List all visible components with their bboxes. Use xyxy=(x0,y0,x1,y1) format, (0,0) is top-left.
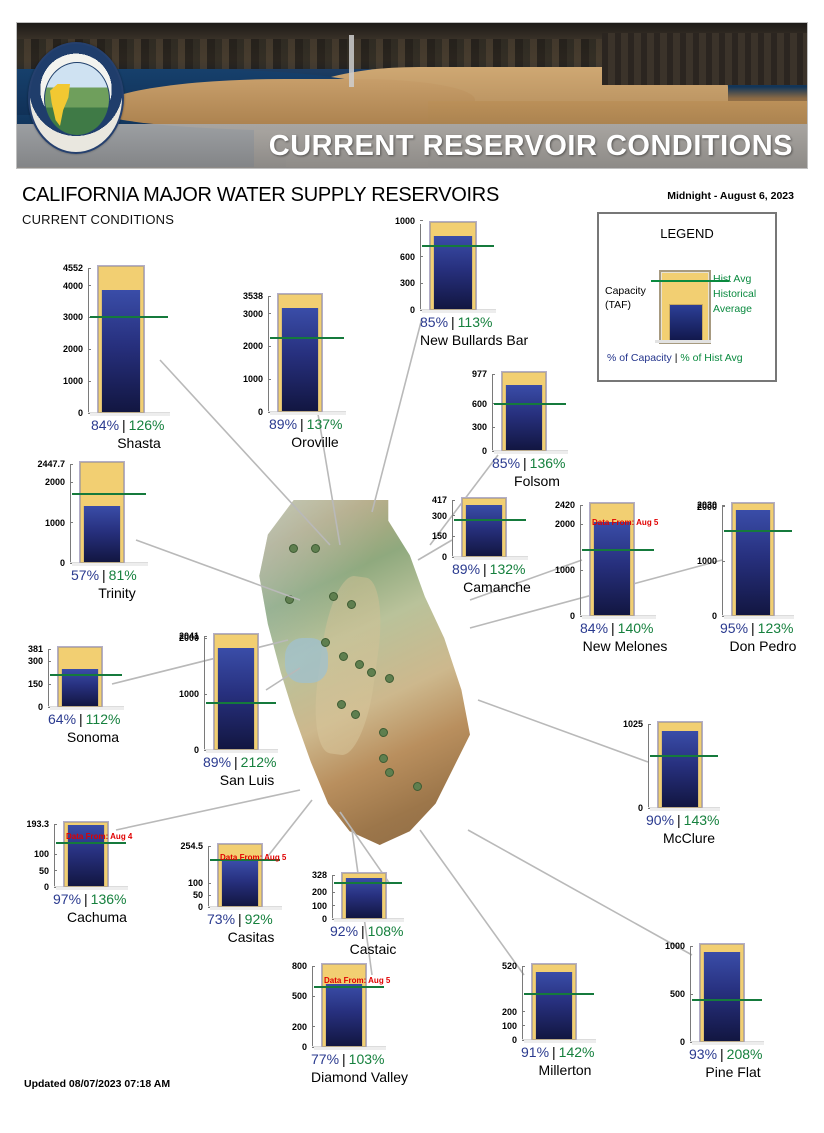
legend-pct-capacity: % of Capacity xyxy=(607,352,672,364)
percent-labels: 85%|113% xyxy=(420,314,492,330)
y-axis-tick-mark xyxy=(332,875,335,876)
y-axis-tick-label: 2030 xyxy=(697,500,722,510)
reservoir-plot: 050100193.3Data From: Aug 4 xyxy=(54,824,112,887)
percent-separator: | xyxy=(235,911,245,927)
panel-baseline xyxy=(524,1040,596,1043)
reservoir-plot: 0100020002030 xyxy=(722,505,778,616)
panel-baseline xyxy=(724,616,794,619)
y-axis-tick-label: 381 xyxy=(28,644,48,654)
reservoir-plot: 0100020002420Data From: Aug 5 xyxy=(580,505,640,616)
y-axis-tick-label: 1000 xyxy=(555,565,580,575)
reservoir-name: Shasta xyxy=(91,435,187,451)
y-axis-tick-mark xyxy=(580,524,583,525)
y-axis-tick-mark xyxy=(722,506,725,507)
panel-baseline xyxy=(210,907,282,910)
panel-baseline xyxy=(582,616,656,619)
percent-of-capacity: 90% xyxy=(646,812,674,828)
percent-labels: 89%|212% xyxy=(203,754,276,770)
map-reservoir-dot xyxy=(311,544,320,553)
legend-footer: % of Capacity | % of Hist Avg xyxy=(607,352,743,364)
reservoir-plot: 03006001000 xyxy=(420,224,480,310)
reservoir-panel: 0200500800Data From: Aug 577%|103%Diamon… xyxy=(312,966,370,1047)
y-axis-tick-label: 1025 xyxy=(623,719,648,729)
y-axis-tick-mark xyxy=(48,649,51,650)
page-subtitle: CURRENT CONDITIONS xyxy=(22,212,174,227)
percent-labels: 73%|92% xyxy=(207,911,273,927)
historical-average-line xyxy=(334,882,402,884)
y-axis-tick-label: 0 xyxy=(482,446,492,456)
percent-of-hist-avg: 103% xyxy=(349,1051,385,1067)
reservoir-name: Diamond Valley xyxy=(311,1069,399,1085)
y-axis-tick-label: 300 xyxy=(432,511,452,521)
map-reservoir-dot xyxy=(367,668,376,677)
historical-average-line xyxy=(90,316,168,318)
legend-historical-line2: Average xyxy=(713,302,756,317)
y-axis-tick-mark xyxy=(332,892,335,893)
y-axis-tick-mark xyxy=(690,994,693,995)
y-axis-tick-label: 3538 xyxy=(243,291,268,301)
historical-average-line xyxy=(314,986,384,988)
y-axis xyxy=(492,374,493,451)
y-axis-tick-label: 0 xyxy=(60,558,70,568)
reservoir-panel: 015030038164%|112%Sonoma xyxy=(48,649,108,707)
y-axis-tick-label: 0 xyxy=(442,552,452,562)
y-axis-tick-label: 4552 xyxy=(63,263,88,273)
y-axis-tick-label: 977 xyxy=(472,369,492,379)
reservoir-plot: 01025 xyxy=(648,724,704,808)
historical-average-line xyxy=(650,755,718,757)
y-axis-tick-label: 0 xyxy=(570,611,580,621)
y-axis-tick-label: 100 xyxy=(34,849,54,859)
legend-storage-fill xyxy=(669,304,703,342)
percent-labels: 93%|208% xyxy=(689,1046,762,1062)
y-axis-tick-label: 2000 xyxy=(45,477,70,487)
storage-bar xyxy=(217,648,255,749)
percent-of-capacity: 73% xyxy=(207,911,235,927)
panel-baseline xyxy=(494,451,568,454)
percent-of-hist-avg: 208% xyxy=(727,1046,763,1062)
map-reservoir-dot xyxy=(329,592,338,601)
reservoir-plot: 0150300417 xyxy=(452,500,512,557)
historical-average-line xyxy=(524,993,594,995)
reservoir-name: Camanche xyxy=(452,579,542,595)
reservoir-panel: 0100020002420Data From: Aug 584%|140%New… xyxy=(580,505,640,616)
percent-of-hist-avg: 140% xyxy=(618,620,654,636)
percent-separator: | xyxy=(480,561,490,577)
map-reservoir-dot xyxy=(351,710,360,719)
reservoir-panel: 0100020002447.757%|81%Trinity xyxy=(70,464,132,563)
percent-of-hist-avg: 132% xyxy=(490,561,526,577)
reservoir-name: Folsom xyxy=(492,473,582,489)
percent-of-hist-avg: 108% xyxy=(368,923,404,939)
y-axis-tick-mark xyxy=(48,661,51,662)
y-axis-tick-label: 0 xyxy=(410,305,420,315)
reservoir-plot: 05001000 xyxy=(690,946,748,1042)
reservoir-panel: 010002000203095%|123%Don Pedro xyxy=(722,505,778,616)
y-axis-tick-mark xyxy=(648,724,651,725)
percent-labels: 91%|142% xyxy=(521,1044,594,1060)
y-axis-tick-label: 0 xyxy=(38,702,48,712)
historical-average-line xyxy=(72,493,146,495)
legend-baseline xyxy=(655,340,711,343)
y-axis-tick-label: 328 xyxy=(312,870,332,880)
panel-baseline xyxy=(206,750,278,753)
historical-average-line xyxy=(582,549,654,551)
reservoir-panel: 050100254.5Data From: Aug 573%|92%Casita… xyxy=(208,846,266,907)
y-axis-tick-mark xyxy=(268,346,271,347)
percent-labels: 90%|143% xyxy=(646,812,719,828)
y-axis xyxy=(48,649,49,707)
percent-labels: 77%|103% xyxy=(311,1051,384,1067)
y-axis-tick-mark xyxy=(332,905,335,906)
y-axis-tick-label: 417 xyxy=(432,495,452,505)
y-axis xyxy=(580,505,581,616)
percent-labels: 57%|81% xyxy=(71,567,137,583)
y-axis xyxy=(522,966,523,1040)
y-axis-tick-label: 0 xyxy=(258,407,268,417)
y-axis-tick-label: 2420 xyxy=(555,500,580,510)
map-reservoir-dot xyxy=(355,660,364,669)
y-axis-tick-label: 0 xyxy=(78,408,88,418)
y-axis-tick-mark xyxy=(208,846,211,847)
reservoir-panel: 010020032892%|108%Castaic xyxy=(332,875,388,919)
storage-bar xyxy=(281,308,319,411)
y-axis-tick-label: 150 xyxy=(432,531,452,541)
percent-labels: 97%|136% xyxy=(53,891,126,907)
percent-of-hist-avg: 92% xyxy=(245,911,273,927)
percent-of-capacity: 84% xyxy=(580,620,608,636)
storage-bar xyxy=(221,861,259,906)
panel-baseline xyxy=(90,413,170,416)
historical-average-line xyxy=(270,337,344,339)
percent-of-capacity: 89% xyxy=(452,561,480,577)
storage-bar xyxy=(345,878,383,918)
reservoir-plot: 0100200520 xyxy=(522,966,580,1040)
historical-average-line xyxy=(50,674,122,676)
historical-average-line xyxy=(422,245,494,247)
legend-historical-line1: Historical xyxy=(713,287,756,302)
storage-bar xyxy=(661,731,699,807)
y-axis-tick-label: 4000 xyxy=(63,281,88,291)
reservoir-panel: 015030041789%|132%Camanche xyxy=(452,500,512,557)
percent-of-hist-avg: 112% xyxy=(86,711,121,727)
reservoir-plot: 0200500800Data From: Aug 5 xyxy=(312,966,370,1047)
data-from-note: Data From: Aug 5 xyxy=(220,853,286,862)
y-axis-tick-label: 2041 xyxy=(179,631,204,641)
capacity-bar xyxy=(58,647,102,707)
y-axis-tick-label: 254.5 xyxy=(180,841,208,851)
reservoir-panel: 0102590%|143%McClure xyxy=(648,724,704,808)
y-axis-tick-label: 100 xyxy=(502,1021,522,1031)
percent-separator: | xyxy=(748,620,758,636)
reservoir-name: Casitas xyxy=(207,929,295,945)
map-reservoir-dot xyxy=(385,674,394,683)
reservoir-name: Trinity xyxy=(71,585,163,601)
legend-hist-avg-text: Hist Avg Historical Average xyxy=(713,272,756,317)
y-axis-tick-mark xyxy=(522,1025,525,1026)
y-axis-tick-mark xyxy=(208,883,211,884)
panel-baseline xyxy=(334,919,404,922)
panel-baseline xyxy=(692,1042,764,1045)
map-reservoir-dot xyxy=(289,544,298,553)
percent-of-hist-avg: 136% xyxy=(91,891,127,907)
y-axis xyxy=(88,268,89,413)
y-axis-tick-label: 1000 xyxy=(45,518,70,528)
reservoir-panel: 01000200030004000455284%|126%Shasta xyxy=(88,268,154,413)
legend-capacity-label: Capacity (TAF) xyxy=(605,284,663,312)
y-axis-tick-mark xyxy=(722,561,725,562)
percent-of-capacity: 95% xyxy=(720,620,748,636)
y-axis-tick-label: 150 xyxy=(28,679,48,689)
historical-average-line xyxy=(56,842,126,844)
reservoir-name: Don Pedro xyxy=(720,638,806,654)
y-axis-tick-mark xyxy=(492,427,495,428)
reservoir-name: Oroville xyxy=(269,434,361,450)
reservoir-plot: 010002000300040004552 xyxy=(88,268,154,413)
storage-bar xyxy=(325,984,363,1046)
leader-line xyxy=(372,318,422,512)
capacity-bar xyxy=(98,266,144,413)
reservoir-name: Castaic xyxy=(330,941,416,957)
as-of-timestamp: Midnight - August 6, 2023 xyxy=(667,190,794,202)
legend-capacity-line1: Capacity xyxy=(605,284,663,298)
percent-labels: 84%|126% xyxy=(91,417,164,433)
map-reservoir-dot xyxy=(385,768,394,777)
capacity-bar xyxy=(462,498,506,557)
storage-bar xyxy=(593,522,631,615)
percent-separator: | xyxy=(119,417,129,433)
y-axis-tick-mark xyxy=(492,374,495,375)
y-axis-tick-label: 100 xyxy=(188,878,208,888)
percent-of-hist-avg: 113% xyxy=(458,314,493,330)
percent-of-hist-avg: 123% xyxy=(758,620,794,636)
storage-bar xyxy=(535,972,573,1039)
y-axis-tick-mark xyxy=(48,684,51,685)
y-axis-tick-mark xyxy=(88,268,91,269)
percent-labels: 89%|132% xyxy=(452,561,525,577)
y-axis-tick-label: 200 xyxy=(312,887,332,897)
y-axis-tick-mark xyxy=(88,349,91,350)
y-axis-tick-mark xyxy=(268,313,271,314)
panel-baseline xyxy=(50,707,124,710)
y-axis-tick-mark xyxy=(54,854,57,855)
y-axis-tick-mark xyxy=(88,381,91,382)
panel-baseline xyxy=(454,557,528,560)
y-axis-tick-label: 1000 xyxy=(179,689,204,699)
storage-bar xyxy=(465,505,503,556)
capacity-bar xyxy=(342,873,386,919)
y-axis-tick-mark xyxy=(580,505,583,506)
y-axis-tick-mark xyxy=(70,522,73,523)
map-reservoir-dot xyxy=(347,600,356,609)
y-axis-tick-label: 100 xyxy=(312,901,332,911)
y-axis-tick-label: 3000 xyxy=(243,309,268,319)
y-axis-tick-mark xyxy=(522,1011,525,1012)
y-axis xyxy=(332,875,333,919)
percent-of-capacity: 89% xyxy=(203,754,231,770)
percent-of-capacity: 85% xyxy=(420,314,448,330)
banner-dam xyxy=(349,35,354,87)
page-title: CALIFORNIA MAJOR WATER SUPPLY RESERVOIRS xyxy=(22,184,499,207)
reservoir-name: McClure xyxy=(646,830,732,846)
capacity-bar xyxy=(658,722,702,808)
percent-of-hist-avg: 143% xyxy=(684,812,720,828)
y-axis-tick-label: 300 xyxy=(28,656,48,666)
percent-labels: 64%|112% xyxy=(48,711,120,727)
y-axis-tick-label: 1000 xyxy=(665,941,690,951)
percent-separator: | xyxy=(520,455,530,471)
banner-title: CURRENT RESERVOIR CONDITIONS xyxy=(269,130,793,163)
y-axis-tick-mark xyxy=(312,1026,315,1027)
reservoir-plot: 01000200030003538 xyxy=(268,296,330,412)
percent-separator: | xyxy=(674,812,684,828)
y-axis-tick-mark xyxy=(722,505,725,506)
y-axis-tick-label: 200 xyxy=(502,1007,522,1017)
percent-separator: | xyxy=(448,314,458,330)
legend-capacity-line2: (TAF) xyxy=(605,298,663,312)
percent-labels: 85%|136% xyxy=(492,455,565,471)
y-axis-tick-label: 1000 xyxy=(697,556,722,566)
map-reservoir-dot xyxy=(413,782,422,791)
data-from-note: Data From: Aug 5 xyxy=(592,518,658,527)
y-axis-tick-label: 50 xyxy=(193,890,208,900)
reservoir-name: Cachuma xyxy=(53,909,141,925)
y-axis-tick-label: 2000 xyxy=(243,341,268,351)
historical-average-line xyxy=(494,403,566,405)
capacity-bar xyxy=(502,372,546,451)
y-axis xyxy=(208,846,209,907)
y-axis-tick-label: 3000 xyxy=(63,312,88,322)
capacity-bar xyxy=(214,634,258,750)
y-axis xyxy=(452,500,453,557)
y-axis-tick-label: 200 xyxy=(292,1022,312,1032)
historical-average-line xyxy=(454,519,526,521)
storage-bar xyxy=(83,506,121,562)
percent-of-hist-avg: 81% xyxy=(109,567,137,583)
panel-baseline xyxy=(56,887,128,890)
capacity-bar xyxy=(430,222,476,310)
panel-baseline xyxy=(270,412,346,415)
y-axis-tick-mark xyxy=(690,946,693,947)
y-axis-tick-label: 500 xyxy=(670,989,690,999)
storage-bar xyxy=(101,290,141,412)
y-axis-tick-mark xyxy=(54,824,57,825)
y-axis-tick-mark xyxy=(522,966,525,967)
map-reservoir-dot xyxy=(379,754,388,763)
y-axis-tick-mark xyxy=(452,515,455,516)
reservoir-panel: 0300600100085%|113%New Bullards Bar xyxy=(420,224,480,310)
percent-of-hist-avg: 136% xyxy=(530,455,566,471)
y-axis-tick-mark xyxy=(54,870,57,871)
storage-bar xyxy=(735,510,771,615)
y-axis xyxy=(312,966,313,1047)
reservoir-name: Millerton xyxy=(521,1062,609,1078)
california-map xyxy=(255,500,470,845)
reservoir-name: Pine Flat xyxy=(689,1064,777,1080)
y-axis-tick-mark xyxy=(420,283,423,284)
reservoir-plot: 0100020002041 xyxy=(204,636,262,750)
storage-bar xyxy=(703,952,741,1041)
percent-separator: | xyxy=(608,620,618,636)
percent-of-hist-avg: 137% xyxy=(307,416,343,432)
data-from-note: Data From: Aug 5 xyxy=(324,976,390,985)
y-axis-tick-label: 500 xyxy=(292,991,312,1001)
reservoir-panel: 0500100093%|208%Pine Flat xyxy=(690,946,748,1042)
reservoir-plot: 0100020002447.7 xyxy=(70,464,132,563)
panel-baseline xyxy=(314,1047,386,1050)
map-reservoir-dot xyxy=(321,638,330,647)
percent-labels: 89%|137% xyxy=(269,416,342,432)
reservoir-plot: 0150300381 xyxy=(48,649,108,707)
panel-baseline xyxy=(650,808,720,811)
y-axis-tick-mark xyxy=(204,694,207,695)
map-reservoir-dot xyxy=(379,728,388,737)
y-axis-tick-mark xyxy=(268,296,271,297)
header-banner: CURRENT RESERVOIR CONDITIONS xyxy=(16,22,808,169)
capacity-bar xyxy=(732,503,774,616)
reservoir-panel: 010002000204189%|212%San Luis xyxy=(204,636,262,750)
legend-pct-separator: | xyxy=(675,352,678,364)
percent-separator: | xyxy=(297,416,307,432)
y-axis-tick-mark xyxy=(88,285,91,286)
panel-baseline xyxy=(72,563,148,566)
y-axis-tick-label: 1000 xyxy=(395,216,420,226)
data-from-note: Data From: Aug 4 xyxy=(66,832,132,841)
y-axis-tick-label: 1000 xyxy=(63,376,88,386)
historical-average-line xyxy=(206,702,276,704)
map-reservoir-dot xyxy=(337,700,346,709)
y-axis-tick-mark xyxy=(420,220,423,221)
reservoir-panel: 0100020003000353889%|137%Oroville xyxy=(268,296,330,412)
y-axis-tick-label: 600 xyxy=(400,252,420,262)
map-reservoir-dot xyxy=(339,652,348,661)
map-reservoir-dot xyxy=(285,595,294,604)
percent-of-capacity: 85% xyxy=(492,455,520,471)
percent-separator: | xyxy=(99,567,109,583)
banner-dark-trees xyxy=(602,33,807,85)
y-axis-tick-label: 1000 xyxy=(243,374,268,384)
panel-baseline xyxy=(422,310,496,313)
percent-separator: | xyxy=(76,711,86,727)
y-axis-tick-mark xyxy=(312,966,315,967)
percent-of-capacity: 97% xyxy=(53,891,81,907)
capacity-bar xyxy=(700,944,744,1042)
y-axis-tick-mark xyxy=(208,895,211,896)
leader-line xyxy=(478,700,648,762)
reservoir-name: New Bullards Bar xyxy=(420,332,510,348)
percent-of-capacity: 91% xyxy=(521,1044,549,1060)
y-axis-tick-mark xyxy=(312,996,315,997)
capacity-bar xyxy=(80,462,124,563)
storage-bar xyxy=(505,385,543,450)
y-axis-tick-mark xyxy=(452,536,455,537)
reservoir-name: San Luis xyxy=(203,772,291,788)
percent-of-capacity: 77% xyxy=(311,1051,339,1067)
legend-hist-avg-label: Hist Avg xyxy=(713,272,756,287)
y-axis-tick-mark xyxy=(420,256,423,257)
y-axis-tick-mark xyxy=(70,464,73,465)
legend-title: LEGEND xyxy=(599,226,775,241)
y-axis xyxy=(420,224,421,310)
y-axis-tick-label: 300 xyxy=(472,422,492,432)
percent-labels: 84%|140% xyxy=(580,620,653,636)
percent-separator: | xyxy=(231,754,241,770)
y-axis-tick-label: 50 xyxy=(39,866,54,876)
legend-box: LEGEND Capacity (TAF) Hist Avg Historica… xyxy=(597,212,777,382)
y-axis-tick-label: 2447.7 xyxy=(37,459,70,469)
reservoir-panel: 030060097785%|136%Folsom xyxy=(492,374,552,451)
percent-of-capacity: 93% xyxy=(689,1046,717,1062)
